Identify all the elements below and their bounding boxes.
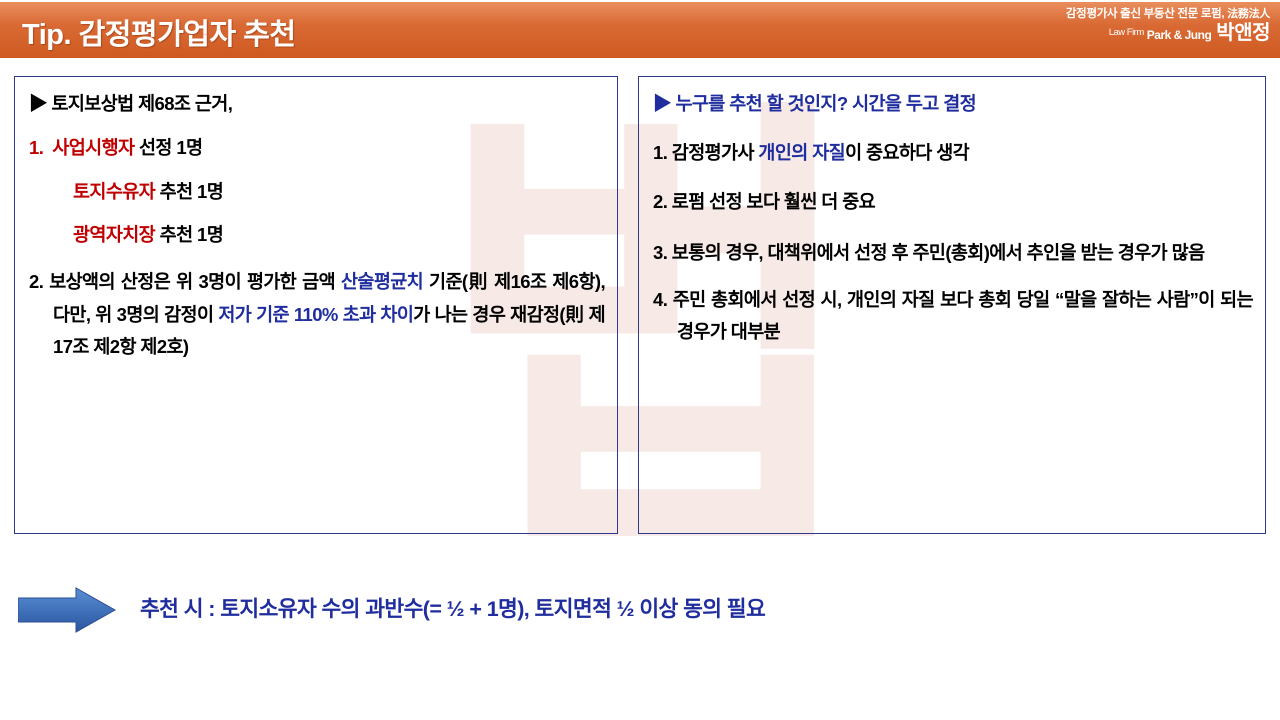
left-line-5-number: 2. xyxy=(29,271,43,292)
left-line-1-marker: ▶ xyxy=(29,93,51,114)
right-panel-heading: ▶ 누구를 추천 할 것인지? 시간을 두고 결정 xyxy=(653,91,1253,118)
left-content-panel: ▶ 토지보상법 제68조 근거, 1. 사업시행자 선정 1명 토지수유자 추천… xyxy=(14,76,618,534)
right-item-4-number: 4. xyxy=(653,289,667,310)
left-line-2: 1. 사업시행자 선정 1명 xyxy=(29,135,605,162)
right-item-1: 1. 감정평가사 개인의 자질이 중요하다 생각 xyxy=(653,140,1253,167)
firm-name-row: Law FirmPark & Jung박앤정 xyxy=(1066,22,1270,45)
right-item-2-text: 로펌 선정 보다 훨씬 더 중요 xyxy=(672,191,875,212)
left-line-1-text: 토지보상법 제68조 근거, xyxy=(51,93,232,114)
left-line-3-rest: 추천 1명 xyxy=(155,181,223,202)
right-item-1-highlight: 개인의 자질 xyxy=(758,142,845,163)
firm-tagline: 감정평가사 출신 부동산 전문 로펌, 法務法人 xyxy=(1066,8,1270,21)
right-item-1-part1: 감정평가사 xyxy=(672,142,759,163)
left-line-5-highlight1: 산술평균치 xyxy=(341,271,423,292)
left-line-4-rest: 추천 1명 xyxy=(155,224,223,245)
page-title: Tip. 감정평가업자 추천 xyxy=(22,11,296,53)
left-line-5-highlight2: 저가 기준 110% 초과 차이 xyxy=(218,304,413,325)
right-item-3-number: 3. xyxy=(653,242,667,263)
left-line-4-highlight: 광역자치장 xyxy=(73,224,155,245)
left-line-3: 토지수유자 추천 1명 xyxy=(29,179,605,206)
left-line-1: ▶ 토지보상법 제68조 근거, xyxy=(29,91,605,118)
right-content-panel: ▶ 누구를 추천 할 것인지? 시간을 두고 결정 1. 감정평가사 개인의 자… xyxy=(638,76,1266,534)
left-line-2-number: 1. xyxy=(29,137,43,158)
right-item-4-text: 주민 총회에서 선정 시, 개인의 자질 보다 총회 당일 “말을 잘하는 사람… xyxy=(673,289,1253,342)
left-line-5-part1: 보상액의 산정은 위 3명이 평가한 금액 xyxy=(49,271,341,292)
right-arrow-icon xyxy=(18,586,116,634)
right-item-2-number: 2. xyxy=(653,191,667,212)
firm-name-en: Park & Jung xyxy=(1147,28,1212,42)
left-line-2-highlight: 사업시행자 xyxy=(52,137,134,158)
right-item-3-text: 보통의 경우, 대책위에서 선정 후 주민(총회)에서 추인을 받는 경우가 많… xyxy=(672,242,1205,263)
firm-tagline-hanja: 法務法人 xyxy=(1227,8,1270,20)
left-line-3-highlight: 토지수유자 xyxy=(73,181,155,202)
right-item-3: 3. 보통의 경우, 대책위에서 선정 후 주민(총회)에서 추인을 받는 경우… xyxy=(653,237,1253,269)
firm-logo: 감정평가사 출신 부동산 전문 로펌, 法務法人 Law FirmPark & … xyxy=(1066,8,1270,45)
left-line-4: 광역자치장 추천 1명 xyxy=(29,222,605,249)
left-line-2-rest: 선정 1명 xyxy=(134,137,202,158)
firm-tagline-ko: 감정평가사 출신 부동산 전문 로펌, xyxy=(1066,8,1227,20)
right-item-4: 4. 주민 총회에서 선정 시, 개인의 자질 보다 총회 당일 “말을 잘하는… xyxy=(653,284,1253,349)
left-line-5: 2. 보상액의 산정은 위 3명이 평가한 금액 산술평균치 기준(則 제16조… xyxy=(29,266,605,363)
right-item-1-part2: 이 중요하다 생각 xyxy=(845,142,969,163)
firm-name-ko: 박앤정 xyxy=(1216,22,1270,44)
bottom-callout-text: 추천 시 : 토지소유자 수의 과반수(= ½ + 1명), 토지면적 ½ 이상… xyxy=(140,592,765,623)
right-item-1-number: 1. xyxy=(653,142,667,163)
right-item-2: 2. 로펌 선정 보다 훨씬 더 중요 xyxy=(653,189,1253,216)
firm-law-firm-label: Law Firm xyxy=(1109,27,1144,38)
